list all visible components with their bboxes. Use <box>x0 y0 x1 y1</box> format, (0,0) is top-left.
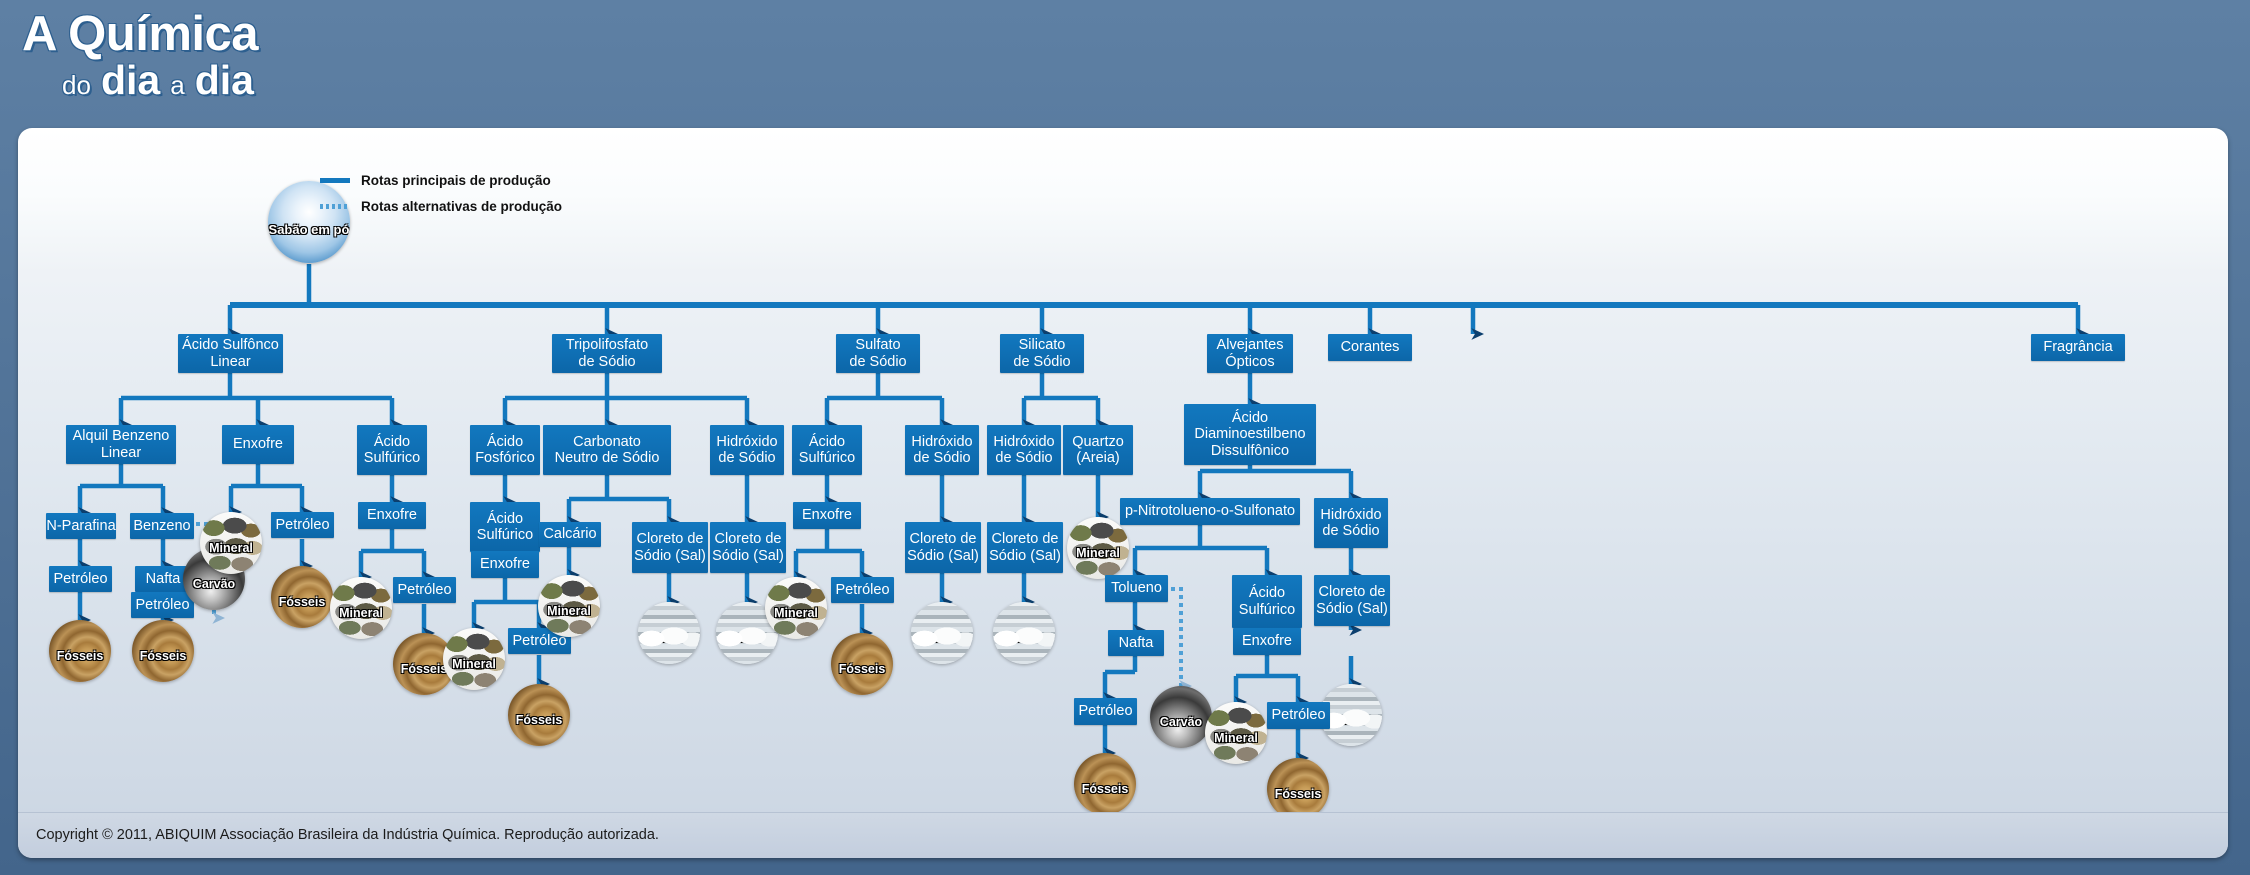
node-label: Fósseis <box>508 713 570 746</box>
node-mineral-b4[interactable]: Mineral <box>1067 517 1129 579</box>
node-label: Carvão <box>1150 715 1212 748</box>
node-label: Petróleo <box>276 517 330 534</box>
node-label: Mineral <box>538 604 600 637</box>
node-label: Cloreto deSódio (Sal) <box>1316 584 1388 617</box>
node-petroleo-b3[interactable]: Petróleo <box>831 577 894 603</box>
node-label: Silicatode Sódio <box>1013 337 1070 370</box>
node-mineral-b3[interactable]: Mineral <box>765 577 827 639</box>
node-petroleo-b1c[interactable]: Petróleo <box>271 512 334 538</box>
node-alvejantes-opticos[interactable]: AlvejantesÓpticos <box>1207 334 1293 373</box>
node-salina-b4[interactable]: Salina <box>993 602 1055 664</box>
legend-label-main: Rotas principais de produção <box>361 173 551 188</box>
node-petroleo-b1a[interactable]: Petróleo <box>49 566 112 592</box>
diagram-panel: Sabão em pó Rotas principais de produção… <box>18 128 2228 858</box>
node-cloreto-de-sodio-b4[interactable]: Cloreto deSódio (Sal) <box>987 522 1063 573</box>
node-label: Enxofre <box>480 556 530 573</box>
node-fosseis-b5a[interactable]: Fósseis <box>1074 753 1136 815</box>
node-mineral-b2[interactable]: Mineral <box>443 628 505 690</box>
node-hidroxido-de-sodio-b3[interactable]: Hidróxidode Sódio <box>905 425 979 475</box>
node-tolueno[interactable]: Tolueno <box>1105 575 1168 602</box>
node-silicato-de-sodio[interactable]: Silicatode Sódio <box>1000 334 1084 373</box>
node-corantes[interactable]: Corantes <box>1328 334 1412 361</box>
node-cloreto-de-sodio-b5[interactable]: Cloreto deSódio (Sal) <box>1314 575 1390 626</box>
node-benzeno[interactable]: Benzeno <box>130 513 194 539</box>
node-label: Sulfatode Sódio <box>849 337 906 370</box>
node-label: Nafta <box>1119 635 1154 652</box>
node-mineral-b1[interactable]: Mineral <box>200 512 262 574</box>
node-label: Benzeno <box>133 518 190 535</box>
node-label: Petróleo <box>1272 707 1326 724</box>
node-label: Fósseis <box>1074 782 1136 815</box>
node-label: Enxofre <box>802 507 852 524</box>
node-enxofre-b3[interactable]: Enxofre <box>793 502 861 529</box>
node-label: Hidróxidode Sódio <box>716 434 777 467</box>
copyright-text: Copyright © 2011, ABIQUIM Associação Bra… <box>36 827 659 843</box>
node-label: Mineral <box>443 657 505 690</box>
node-label: Cloreto deSódio (Sal) <box>907 531 979 564</box>
node-label: Salina <box>993 631 1055 664</box>
node-label: Calcário <box>543 526 596 543</box>
node-label: ÁcidoFosfórico <box>475 434 535 467</box>
title-word-dia-1: dia <box>101 57 160 103</box>
node-acido-fosforico[interactable]: ÁcidoFosfórico <box>470 425 540 475</box>
node-label: Hidróxidode Sódio <box>911 434 972 467</box>
node-label: ÁcidoSulfúrico <box>799 434 855 467</box>
node-label: Corantes <box>1341 339 1400 356</box>
node-fosseis-b1a[interactable]: Fósseis <box>49 620 111 682</box>
page-title: A Química do dia a dia <box>22 8 258 105</box>
node-acido-sulfurico-b5[interactable]: ÁcidoSulfúrico <box>1232 575 1302 628</box>
node-label: Petróleo <box>836 582 890 599</box>
title-line-1: A Química <box>22 8 258 60</box>
node-label: Nafta <box>146 571 181 588</box>
node-fragrancia[interactable]: Fragrância <box>2031 334 2125 361</box>
node-label: Petróleo <box>54 571 108 588</box>
node-fosseis-b3[interactable]: Fósseis <box>831 633 893 695</box>
node-fosseis-b1c[interactable]: Fósseis <box>271 566 333 628</box>
node-label: Petróleo <box>1079 703 1133 720</box>
node-quartzo-areia[interactable]: Quartzo(Areia) <box>1063 425 1133 475</box>
node-label: Fragrância <box>2043 339 2112 356</box>
node-petroleo-b5b[interactable]: Petróleo <box>1267 702 1330 729</box>
node-label: Mineral <box>200 541 262 574</box>
title-word-dia-2: dia <box>195 57 254 103</box>
node-cloreto-de-sodio-b3[interactable]: Cloreto deSódio (Sal) <box>905 522 981 573</box>
node-label: Salina <box>911 631 973 664</box>
legend-row-main: Rotas principais de produção <box>320 170 562 191</box>
node-label: Petróleo <box>398 582 452 599</box>
node-label: Cloreto deSódio (Sal) <box>712 531 784 564</box>
node-fosseis-b2[interactable]: Fósseis <box>508 684 570 746</box>
node-label: Carvão <box>183 577 245 610</box>
header-banner: A Química do dia a dia <box>0 0 2250 130</box>
node-enxofre-b2[interactable]: Enxofre <box>471 551 539 578</box>
node-acido-sulfurico-b1[interactable]: ÁcidoSulfúrico <box>357 425 427 475</box>
node-label: Quartzo(Areia) <box>1072 434 1124 467</box>
node-petroleo-b1d[interactable]: Petróleo <box>393 577 456 603</box>
node-petroleo-b5a[interactable]: Petróleo <box>1074 698 1137 725</box>
node-sulfato-de-sodio[interactable]: Sulfatode Sódio <box>836 334 920 373</box>
node-tripolifosfato-de-sodio[interactable]: Tripolifosfatode Sódio <box>552 334 662 373</box>
node-label: Ácido SulfôncoLinear <box>182 337 279 370</box>
node-label: Fósseis <box>831 662 893 695</box>
node-label: Salina <box>638 631 700 664</box>
node-label: Hidróxidode Sódio <box>993 434 1054 467</box>
dotted-line-icon <box>320 204 350 209</box>
node-acido-sulfurico-b3[interactable]: ÁcidoSulfúrico <box>792 425 862 475</box>
node-label: Mineral <box>765 606 827 639</box>
node-cloreto-de-sodio-b2b[interactable]: Cloreto deSódio (Sal) <box>710 522 786 573</box>
node-acido-diaminoestilbeno-dissulfonico[interactable]: ÁcidoDiaminoestilbenoDissulfônico <box>1184 404 1316 465</box>
legend-label-alt: Rotas alternativas de produção <box>361 199 562 214</box>
node-hidroxido-de-sodio-b5[interactable]: Hidróxidode Sódio <box>1314 498 1388 548</box>
node-label: AlvejantesÓpticos <box>1217 337 1284 370</box>
node-alquil-benzeno-linear[interactable]: Alquil BenzenoLinear <box>66 425 176 464</box>
node-label: Mineral <box>330 606 392 639</box>
node-salina-b2[interactable]: Salina <box>638 602 700 664</box>
node-hidroxido-de-sodio-b4[interactable]: Hidróxidode Sódio <box>987 425 1061 475</box>
node-mineral-b2b[interactable]: Mineral <box>538 575 600 637</box>
node-label: CarbonatoNeutro de Sódio <box>555 434 660 467</box>
node-label: Enxofre <box>233 436 283 453</box>
title-word-a: a <box>170 70 184 100</box>
node-n-parafina[interactable]: N-Parafina <box>46 513 116 539</box>
footer-bar: Copyright © 2011, ABIQUIM Associação Bra… <box>18 812 2228 858</box>
node-mineral-b5[interactable]: Mineral <box>1205 702 1267 764</box>
node-label: Enxofre <box>1242 633 1292 650</box>
node-hidroxido-de-sodio-b2[interactable]: Hidróxidode Sódio <box>710 425 784 475</box>
node-nafta-b5[interactable]: Nafta <box>1108 630 1164 656</box>
node-acido-sulfonco-linear[interactable]: Ácido SulfôncoLinear <box>178 334 283 373</box>
node-label: Petróleo <box>136 597 190 614</box>
node-enxofre-b1b[interactable]: Enxofre <box>358 502 426 529</box>
node-label: ÁcidoDiaminoestilbenoDissulfônico <box>1194 410 1305 460</box>
node-label: Enxofre <box>367 507 417 524</box>
node-label: ÁcidoSulfúrico <box>1239 585 1295 618</box>
title-line-2: do dia a dia <box>62 60 258 105</box>
node-label: Mineral <box>1205 731 1267 764</box>
infographic-root: A Química do dia a dia <box>0 0 2250 875</box>
node-enxofre-b1[interactable]: Enxofre <box>222 425 294 464</box>
node-label: p-Nitrotolueno-o-Sulfonato <box>1125 503 1295 520</box>
node-fosseis-b5b[interactable]: Fósseis <box>1267 758 1329 820</box>
node-carvao-b5[interactable]: Carvão <box>1150 686 1212 748</box>
node-cloreto-de-sodio-b2[interactable]: Cloreto deSódio (Sal) <box>632 522 708 573</box>
node-acido-sulfurico-b2[interactable]: ÁcidoSulfúrico <box>470 502 540 552</box>
node-label: Fósseis <box>271 595 333 628</box>
legend: Rotas principais de produção Rotas alter… <box>320 170 562 222</box>
node-label: Fósseis <box>132 649 194 682</box>
node-label: Cloreto deSódio (Sal) <box>989 531 1061 564</box>
node-label: Cloreto deSódio (Sal) <box>634 531 706 564</box>
node-label: ÁcidoSulfúrico <box>477 511 533 544</box>
node-enxofre-b5[interactable]: Enxofre <box>1233 628 1301 655</box>
node-label: N-Parafina <box>46 518 115 535</box>
node-mineral-b1b[interactable]: Mineral <box>330 577 392 639</box>
node-label: Alquil BenzenoLinear <box>73 428 170 461</box>
node-calcario[interactable]: Calcário <box>539 522 601 547</box>
node-salina-b3[interactable]: Salina <box>911 602 973 664</box>
node-carbonato-neutro-de-sodio[interactable]: CarbonatoNeutro de Sódio <box>543 425 671 475</box>
diagram-canvas: Sabão em pó Rotas principais de produção… <box>18 128 2228 812</box>
node-label: Hidróxidode Sódio <box>1320 507 1381 540</box>
node-label: ÁcidoSulfúrico <box>364 434 420 467</box>
node-label: Tolueno <box>1111 580 1162 597</box>
node-p-nitrotolueno-o-sulfonato[interactable]: p-Nitrotolueno-o-Sulfonato <box>1120 498 1300 525</box>
node-label: Tripolifosfatode Sódio <box>566 337 648 370</box>
solid-line-icon <box>320 178 350 183</box>
title-word-do: do <box>62 70 91 100</box>
node-fosseis-b1b[interactable]: Fósseis <box>132 620 194 682</box>
node-label: Fósseis <box>49 649 111 682</box>
legend-row-alt: Rotas alternativas de produção <box>320 196 562 217</box>
node-label: Sabão em pó <box>268 222 350 263</box>
